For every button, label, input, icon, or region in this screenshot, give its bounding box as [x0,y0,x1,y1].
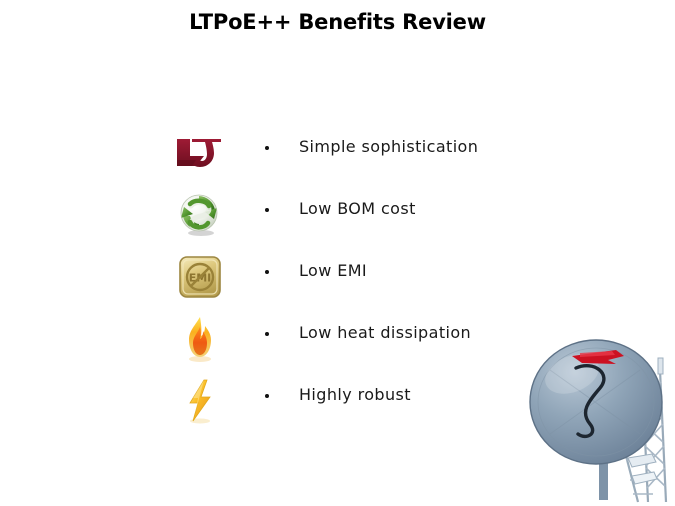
satellite-dish-antenna-image [520,330,675,506]
bullet-label: Highly robust [299,385,411,404]
bullet-marker [265,332,269,336]
bullet-label: Low heat dissipation [299,323,471,342]
list-item: Simple sophistication [0,124,520,186]
list-item: EMI Low EMI [0,248,520,310]
lt-logo-icon [172,124,228,182]
bullet-marker [265,146,269,150]
list-item: Low BOM cost [0,186,520,248]
lightning-bolt-icon [172,372,228,430]
page-title: LTPoE++ Benefits Review [0,10,675,34]
bullet-label: Low EMI [299,261,367,280]
list-item: Low heat dissipation [0,310,520,372]
bullet-marker [265,270,269,274]
flame-icon [172,310,228,368]
benefits-bullet-list: Simple sophistication [0,124,520,434]
bullet-marker [265,208,269,212]
bullet-label: Simple sophistication [299,137,478,156]
bullet-label: Low BOM cost [299,199,416,218]
no-emi-badge-icon: EMI [172,248,228,306]
slide-canvas: LTPoE++ Benefits Review Simpl [0,0,675,506]
list-item: Highly robust [0,372,520,434]
recycle-arrows-icon [172,186,228,244]
bullet-marker [265,394,269,398]
